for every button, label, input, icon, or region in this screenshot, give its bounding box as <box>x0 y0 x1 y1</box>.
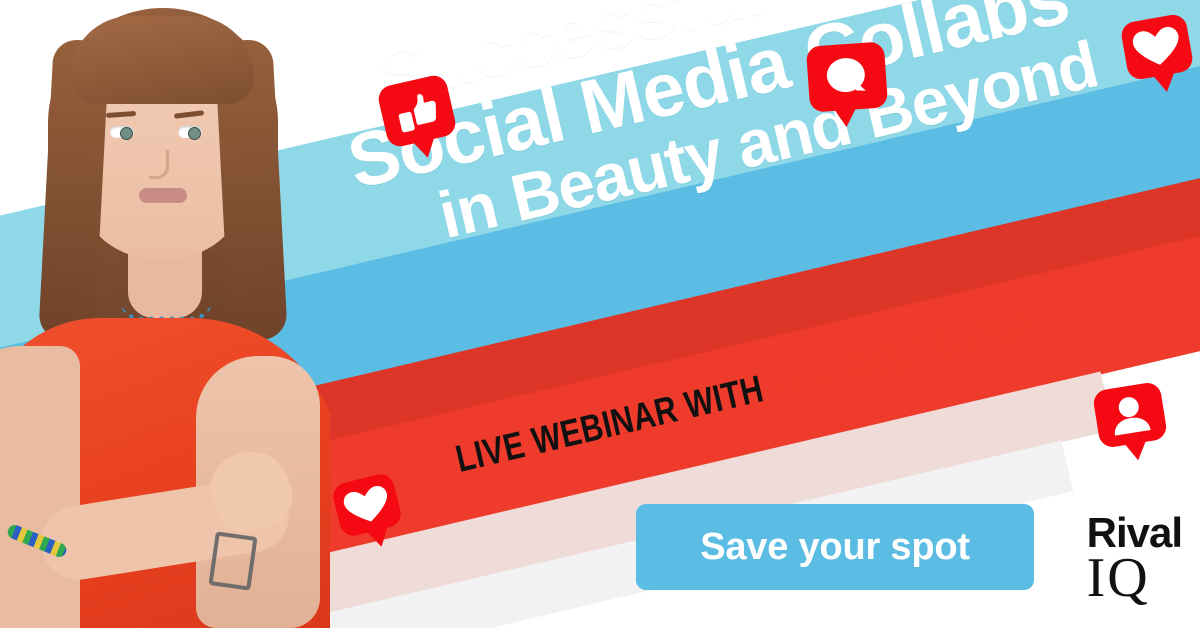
save-your-spot-button[interactable]: Save your spot <box>636 504 1034 590</box>
arm-tattoo <box>208 531 257 590</box>
iris-right <box>188 127 201 140</box>
cta-label: Save your spot <box>700 526 970 569</box>
person-bubble-icon <box>1092 381 1168 449</box>
webinar-promo-banner: Successful Social Media Collabs in Beaut… <box>0 0 1200 628</box>
speaker-portrait <box>0 0 330 628</box>
logo-word-iq: IQ <box>1087 550 1182 606</box>
person-glyph <box>1092 381 1168 449</box>
comment-bubble-icon <box>806 41 888 112</box>
rival-iq-logo: Rival IQ <box>1087 512 1182 606</box>
lips <box>139 188 187 203</box>
heart-glyph <box>1119 13 1194 82</box>
comment-glyph <box>806 41 888 112</box>
hair-bangs <box>70 16 254 104</box>
iris-left <box>120 127 133 140</box>
nose <box>148 150 169 179</box>
heart-bubble-icon <box>1119 13 1194 82</box>
shoulder-left <box>0 346 80 628</box>
